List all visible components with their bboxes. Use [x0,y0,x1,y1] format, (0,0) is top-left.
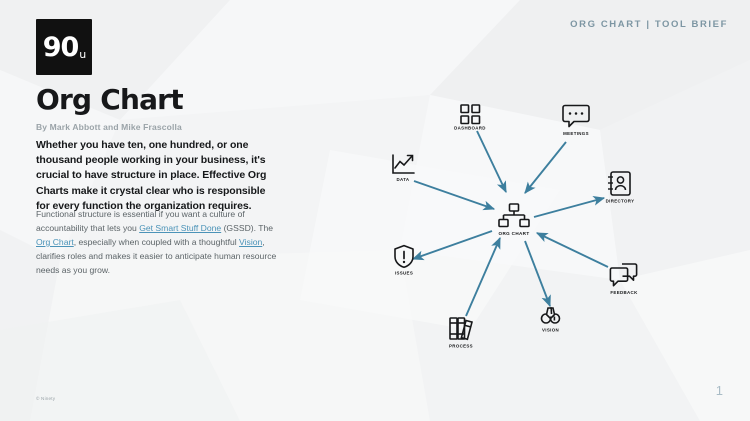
books-binders-icon [450,318,472,339]
node-issues[interactable]: ISSUES [395,246,413,276]
node-feedback[interactable]: FEEDBACK [610,264,638,295]
slide-page: ORG CHART | TOOL BRIEF 90u Org Chart By … [0,0,750,421]
node-directory[interactable]: DIRECTORY [606,172,635,204]
arrow-process-to-hub [466,238,500,316]
hub-label: ORG CHART [499,231,530,236]
node-vision[interactable]: VISION [542,308,560,333]
arrow-feedback-to-hub [537,233,608,267]
logo-mark-number: 90 [43,34,79,61]
link-get-smart-stuff-done[interactable]: Get Smart Stuff Done [139,223,221,233]
body-text-part-3: , especially when coupled with a thought… [74,237,239,247]
connector-arrows [413,131,608,316]
line-chart-icon [393,155,414,173]
arrow-hub-to-issues [413,231,492,259]
link-org-chart[interactable]: Org Chart [36,237,74,247]
arrow-dashboard-to-hub [477,131,506,192]
arrow-meetings-to-hub [525,142,566,193]
binoculars-icon [542,308,560,323]
speech-bubble-dots-icon [563,106,589,127]
link-vision[interactable]: Vision [239,237,262,247]
page-number: 1 [716,383,723,398]
node-data[interactable]: DATA [393,155,414,182]
node-process[interactable]: PROCESS [449,318,473,349]
node-meetings[interactable]: MEETINGS [563,106,589,137]
author-byline: By Mark Abbott and Mike Frascolla [36,122,182,132]
address-book-icon [608,172,630,195]
arrow-hub-to-directory [534,198,604,217]
footer-copyright: © Ninety [36,396,55,401]
node-label-data: DATA [397,177,410,182]
body-paragraph: Functional structure is essential if you… [36,208,281,278]
arrow-hub-to-vision [525,241,550,306]
org-chart-hierarchy-icon [499,204,529,227]
arrow-data-to-hub [414,181,494,209]
org-chart-hub-diagram: ORG CHART DASHBOARD [370,78,660,363]
node-dashboard[interactable]: DASHBOARD [454,105,486,131]
logo-mark-sub: u [79,49,85,60]
node-label-feedback: FEEDBACK [610,290,638,295]
brand-logo: 90u [36,19,92,75]
node-label-issues: ISSUES [395,271,413,276]
node-label-directory: DIRECTORY [606,199,635,204]
node-label-meetings: MEETINGS [563,131,589,136]
body-text-part-2: (GSSD). The [221,223,273,233]
logo-mark: 90u [43,34,86,61]
node-label-vision: VISION [542,328,559,333]
node-label-process: PROCESS [449,344,473,349]
grid-squares-icon [461,105,480,124]
header-section-label: ORG CHART | TOOL BRIEF [570,19,728,30]
chat-bubbles-icon [610,264,636,286]
page-title: Org Chart [36,86,183,114]
hub-org-chart[interactable]: ORG CHART [499,204,530,236]
node-label-dashboard: DASHBOARD [454,126,486,131]
lead-paragraph: Whether you have ten, one hundred, or on… [36,138,281,214]
shield-exclamation-icon [395,246,413,268]
